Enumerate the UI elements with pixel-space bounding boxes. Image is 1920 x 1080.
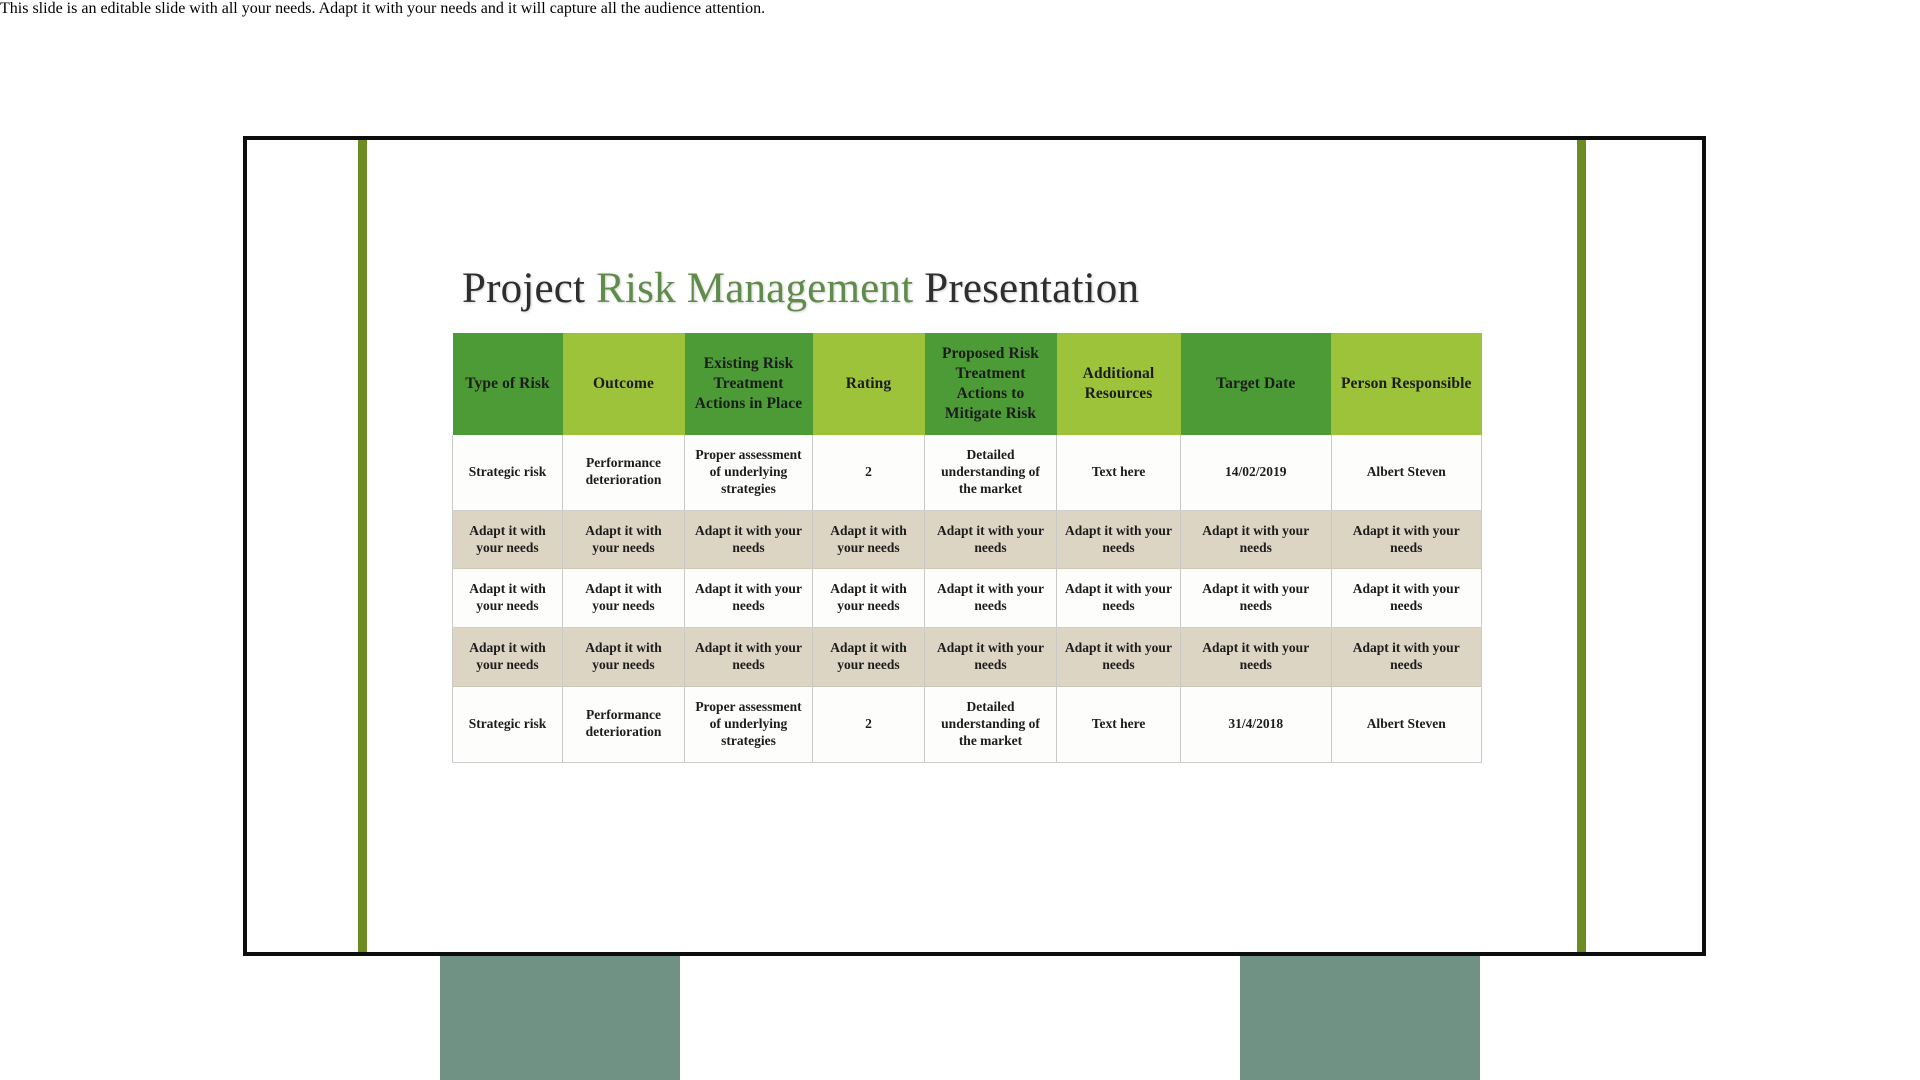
table-body: Strategic risk Performance deterioration…	[453, 435, 1482, 762]
cell-rating: 2	[813, 686, 925, 762]
table-row[interactable]: Strategic risk Performance deterioration…	[453, 686, 1482, 762]
cell-rating: 2	[813, 435, 925, 510]
cell-type-of-risk: Adapt it with your needs	[453, 510, 563, 569]
cell-target-date: Adapt it with your needs	[1181, 628, 1332, 687]
cell-existing-actions: Adapt it with your needs	[685, 628, 813, 687]
cell-outcome: Adapt it with your needs	[563, 569, 685, 628]
sticky-note-text: This slide is an editable slide with all…	[0, 0, 1920, 18]
cell-additional-resources: Adapt it with your needs	[1057, 569, 1181, 628]
cell-person-responsible: Albert Steven	[1331, 435, 1482, 510]
cell-person-responsible: Albert Steven	[1331, 686, 1482, 762]
title-part-project: Project	[462, 265, 596, 312]
cell-target-date: 31/4/2018	[1181, 686, 1332, 762]
cell-proposed-actions: Adapt it with your needs	[925, 569, 1057, 628]
cell-additional-resources: Text here	[1057, 435, 1181, 510]
column-header-type-of-risk[interactable]: Type of Risk	[453, 333, 563, 435]
title-part-presentation: Presentation	[913, 265, 1139, 312]
cell-proposed-actions: Adapt it with your needs	[925, 628, 1057, 687]
table-row[interactable]: Adapt it with your needs Adapt it with y…	[453, 569, 1482, 628]
cell-existing-actions: Adapt it with your needs	[685, 510, 813, 569]
column-header-outcome[interactable]: Outcome	[563, 333, 685, 435]
table-row[interactable]: Adapt it with your needs Adapt it with y…	[453, 510, 1482, 569]
cell-existing-actions: Adapt it with your needs	[685, 569, 813, 628]
cell-additional-resources: Text here	[1057, 686, 1181, 762]
risk-management-table: Type of Risk Outcome Existing Risk Treat…	[452, 333, 1482, 763]
cell-additional-resources: Adapt it with your needs	[1057, 628, 1181, 687]
column-header-additional-resources[interactable]: Additional Resources	[1057, 333, 1181, 435]
table-header-row: Type of Risk Outcome Existing Risk Treat…	[453, 333, 1482, 435]
cell-proposed-actions: Detailed understanding of the market	[925, 435, 1057, 510]
cell-target-date: 14/02/2019	[1181, 435, 1332, 510]
screenshot-canvas: Project Risk Management Presentation Typ…	[0, 0, 1920, 1080]
column-header-target-date[interactable]: Target Date	[1181, 333, 1332, 435]
table-header: Type of Risk Outcome Existing Risk Treat…	[453, 333, 1482, 435]
cell-outcome: Adapt it with your needs	[563, 628, 685, 687]
accent-bar-left	[358, 140, 367, 952]
cell-rating: Adapt it with your needs	[813, 510, 925, 569]
cell-person-responsible: Adapt it with your needs	[1331, 510, 1482, 569]
cell-type-of-risk: Adapt it with your needs	[453, 628, 563, 687]
cell-existing-actions: Proper assessment of underlying strategi…	[685, 686, 813, 762]
cell-additional-resources: Adapt it with your needs	[1057, 510, 1181, 569]
cell-target-date: Adapt it with your needs	[1181, 569, 1332, 628]
cell-type-of-risk: Strategic risk	[453, 435, 563, 510]
cell-target-date: Adapt it with your needs	[1181, 510, 1332, 569]
column-header-proposed-actions[interactable]: Proposed Risk Treatment Actions to Mitig…	[925, 333, 1057, 435]
cell-outcome: Performance deterioration	[563, 686, 685, 762]
table-row[interactable]: Strategic risk Performance deterioration…	[453, 435, 1482, 510]
column-header-rating[interactable]: Rating	[813, 333, 925, 435]
cell-type-of-risk: Strategic risk	[453, 686, 563, 762]
cell-rating: Adapt it with your needs	[813, 569, 925, 628]
accent-bar-right	[1577, 140, 1586, 952]
column-header-person-responsible[interactable]: Person Responsible	[1331, 333, 1482, 435]
title-part-highlight: Risk Management	[596, 265, 913, 312]
cell-person-responsible: Adapt it with your needs	[1331, 569, 1482, 628]
cell-person-responsible: Adapt it with your needs	[1331, 628, 1482, 687]
column-header-existing-actions[interactable]: Existing Risk Treatment Actions in Place	[685, 333, 813, 435]
sticky-note[interactable]: This slide is an editable slide with all…	[0, 0, 1920, 18]
cell-proposed-actions: Detailed understanding of the market	[925, 686, 1057, 762]
cell-rating: Adapt it with your needs	[813, 628, 925, 687]
cell-outcome: Performance deterioration	[563, 435, 685, 510]
cell-proposed-actions: Adapt it with your needs	[925, 510, 1057, 569]
cell-existing-actions: Proper assessment of underlying strategi…	[685, 435, 813, 510]
cell-type-of-risk: Adapt it with your needs	[453, 569, 563, 628]
cell-outcome: Adapt it with your needs	[563, 510, 685, 569]
table-row[interactable]: Adapt it with your needs Adapt it with y…	[453, 628, 1482, 687]
page-title: Project Risk Management Presentation	[462, 264, 1139, 313]
